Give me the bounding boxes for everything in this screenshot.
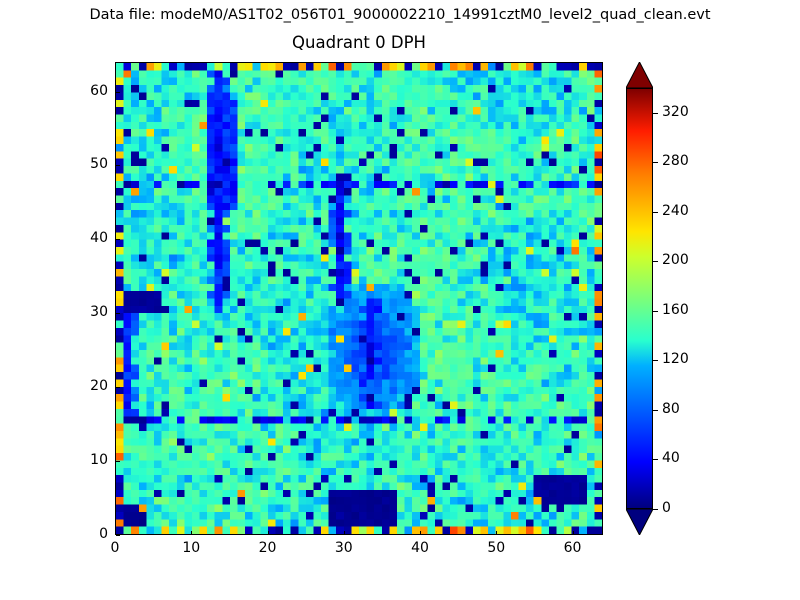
y-tick bbox=[116, 535, 120, 536]
colorbar-tick bbox=[653, 410, 658, 411]
colorbar-tick-label: 240 bbox=[662, 203, 689, 219]
colorbar-tick-label: 40 bbox=[662, 450, 680, 466]
x-tick-label: 0 bbox=[95, 540, 135, 556]
colorbar-tick-label: 120 bbox=[662, 351, 689, 367]
x-tick-label: 40 bbox=[400, 540, 440, 556]
x-tick bbox=[344, 531, 345, 535]
colorbar-tick-label: 0 bbox=[662, 500, 671, 516]
colorbar-tick bbox=[653, 360, 658, 361]
y-tick bbox=[116, 461, 120, 462]
colorbar-extend-top-icon bbox=[626, 62, 653, 88]
colorbar-tick bbox=[653, 459, 658, 460]
x-tick-label: 20 bbox=[248, 540, 288, 556]
figure-canvas: Data file: modeM0/AS1T02_056T01_90000022… bbox=[0, 0, 800, 600]
colorbar-tick-label: 200 bbox=[662, 252, 689, 268]
y-tick-label: 0 bbox=[68, 526, 108, 542]
x-tick-label: 30 bbox=[324, 540, 364, 556]
x-tick bbox=[191, 531, 192, 535]
y-tick bbox=[116, 239, 120, 240]
page-title: Quadrant 0 DPH bbox=[115, 33, 603, 52]
x-tick bbox=[496, 531, 497, 535]
y-tick-label: 20 bbox=[68, 378, 108, 394]
y-tick-label: 60 bbox=[68, 83, 108, 99]
y-tick-label: 30 bbox=[68, 304, 108, 320]
colorbar-tick bbox=[653, 212, 658, 213]
y-tick-label: 10 bbox=[68, 452, 108, 468]
colorbar-tick-label: 320 bbox=[662, 104, 689, 120]
y-tick bbox=[116, 387, 120, 388]
y-tick bbox=[116, 165, 120, 166]
x-tick-label: 50 bbox=[476, 540, 516, 556]
colorbar-tick-label: 80 bbox=[662, 401, 680, 417]
colorbar-tick bbox=[653, 261, 658, 262]
heatmap-image bbox=[116, 63, 602, 534]
heatmap-plot-area[interactable] bbox=[115, 62, 603, 535]
colorbar-extend-bottom-icon bbox=[626, 509, 653, 535]
colorbar-gradient bbox=[626, 88, 653, 509]
y-tick bbox=[116, 313, 120, 314]
colorbar-tick bbox=[653, 311, 658, 312]
x-tick bbox=[268, 531, 269, 535]
colorbar-tick-label: 160 bbox=[662, 302, 689, 318]
y-tick-label: 40 bbox=[68, 230, 108, 246]
colorbar-tick bbox=[653, 509, 658, 510]
colorbar-tick bbox=[653, 162, 658, 163]
y-tick-label: 50 bbox=[68, 156, 108, 172]
colorbar-tick-label: 280 bbox=[662, 153, 689, 169]
x-tick-label: 60 bbox=[553, 540, 593, 556]
x-tick bbox=[573, 531, 574, 535]
data-file-label: Data file: modeM0/AS1T02_056T01_90000022… bbox=[0, 7, 800, 23]
colorbar-tick bbox=[653, 113, 658, 114]
y-tick bbox=[116, 92, 120, 93]
x-tick-label: 10 bbox=[171, 540, 211, 556]
x-tick bbox=[420, 531, 421, 535]
colorbar[interactable] bbox=[626, 62, 653, 535]
